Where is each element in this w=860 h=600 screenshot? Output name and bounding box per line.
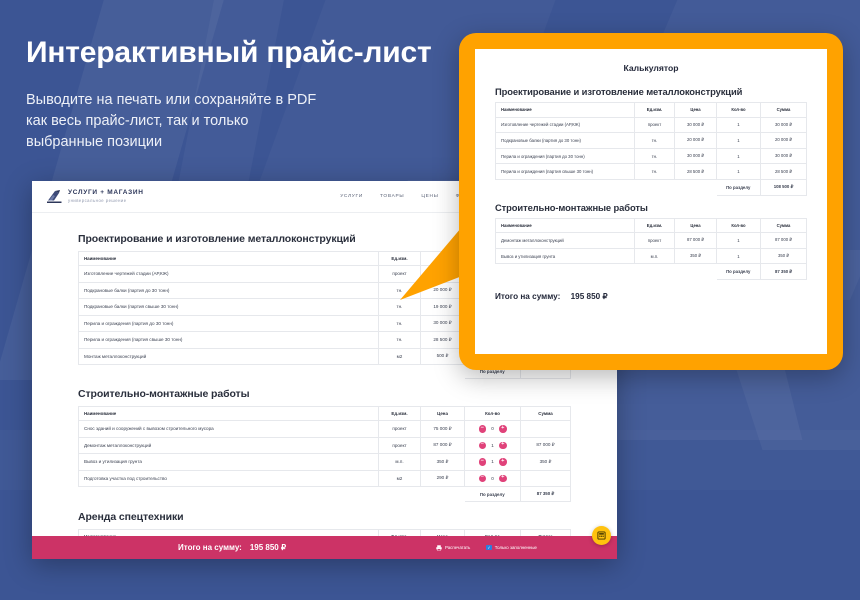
table-row: Изготовление чертежей стадии (АР,КЖ)прое… <box>496 117 807 133</box>
subtotal-spacer <box>496 179 635 195</box>
row-unit: проект <box>379 266 421 283</box>
qty-value: 1 <box>490 443 495 448</box>
row-unit: проект <box>635 117 675 133</box>
row-price: 350 ₽ <box>421 454 465 471</box>
col-name: Наименование <box>496 218 635 233</box>
row-price: 75 000 ₽ <box>421 421 465 438</box>
row-price: 350 ₽ <box>675 248 717 264</box>
col-price: Цена <box>421 252 465 266</box>
subtotal-spacer <box>421 487 465 502</box>
total-value: 195 850 ₽ <box>250 543 286 552</box>
row-unit: тн. <box>379 315 421 332</box>
subtotal-spacer <box>379 487 421 502</box>
row-sum <box>521 421 571 438</box>
col-unit: Ед.изм. <box>379 407 421 421</box>
table-row: Вывоз и утилизация грунтам.п.350 ₽−1+350… <box>79 454 571 471</box>
col-price: Цена <box>675 103 717 118</box>
grand-total-label: Итого на сумму: <box>495 292 560 301</box>
row-qty-stepper[interactable]: −1+ <box>465 454 521 471</box>
checkbox-check-icon: ✓ <box>486 545 492 551</box>
row-unit: м2 <box>379 348 421 365</box>
calculator-title: Калькулятор <box>495 63 807 73</box>
col-unit: Ед.изм. <box>635 103 675 118</box>
row-qty-stepper[interactable]: −0+ <box>465 470 521 487</box>
section-title: Аренда спецтехники <box>78 511 571 523</box>
row-price: 87 000 ₽ <box>675 233 717 249</box>
row-sum: 350 ₽ <box>521 454 571 471</box>
row-sum: 87 000 ₽ <box>521 437 571 454</box>
nav-item-uslugi[interactable]: УСЛУГИ <box>340 194 363 199</box>
row-name: Демонтаж металлоконструкций <box>496 233 635 249</box>
calculator-fab-button[interactable] <box>592 526 611 545</box>
row-qty: 1 <box>717 148 761 164</box>
subtotal-spacer <box>675 179 717 195</box>
price-section: Проектирование и изготовление металлокон… <box>495 86 807 196</box>
subtotal-spacer <box>379 365 421 379</box>
site-logo[interactable]: УСЛУГИ + МАГАЗИН универсальное решение <box>46 189 144 204</box>
col-qty: Кол-во <box>717 103 761 118</box>
row-name: Перила и ограждения (партия до 30 тонн) <box>79 315 379 332</box>
row-unit: м2 <box>379 470 421 487</box>
row-price: 20 000 ₽ <box>675 133 717 149</box>
qty-decrement-button[interactable]: − <box>479 442 487 450</box>
table-row: Перила и ограждения (партия свыше 30 тон… <box>496 164 807 180</box>
qty-increment-button[interactable]: + <box>499 442 507 450</box>
page-title: Интерактивный прайс-лист <box>26 36 456 69</box>
col-unit: Ед.изм. <box>635 218 675 233</box>
total-label: Итого на сумму: <box>178 543 242 552</box>
col-price: Цена <box>421 407 465 421</box>
table-header-row: НаименованиеЕд.изм.ЦенаКол-воСумма <box>496 103 807 118</box>
table-row: Перила и ограждения (партия до 30 тонн)т… <box>496 148 807 164</box>
row-name: Изготовление чертежей стадии (АР,КЖ) <box>496 117 635 133</box>
print-label: Распечатать <box>445 545 470 550</box>
row-name: Изготовление чертежей стадии (АР,КЖ) <box>79 266 379 283</box>
col-price: Цена <box>675 218 717 233</box>
subtotal-spacer <box>79 365 379 379</box>
row-name: Подкрановые балки (партия до 30 тонн) <box>496 133 635 149</box>
qty-increment-button[interactable]: + <box>499 458 507 466</box>
subtotal-row: По разделу87 350 ₽ <box>496 264 807 280</box>
logo-title: УСЛУГИ + МАГАЗИН <box>68 190 144 197</box>
section-title: Проектирование и изготовление металлокон… <box>495 86 807 97</box>
qty-increment-button[interactable]: + <box>499 475 507 483</box>
row-name: Подготовка участка под строительство <box>79 470 379 487</box>
price-table: НаименованиеЕд.изм.ЦенаКол-воСуммаДемонт… <box>495 218 807 280</box>
row-unit: тн. <box>379 332 421 349</box>
row-price: 290 ₽ <box>421 470 465 487</box>
calculator-grand-total: Итого на сумму: 195 850 ₽ <box>495 291 807 301</box>
nav-item-tovary[interactable]: ТОВАРЫ <box>380 194 404 199</box>
nav-item-tseny[interactable]: ЦЕНЫ <box>421 194 438 199</box>
table-header-row: НаименованиеЕд.изм.ЦенаКол-воСумма <box>496 218 807 233</box>
row-qty: 1 <box>717 248 761 264</box>
row-price: 87 000 ₽ <box>421 437 465 454</box>
subtotal-spacer <box>496 264 635 280</box>
row-name: Перила и ограждения (партия свыше 30 тон… <box>496 164 635 180</box>
filled-only-checkbox[interactable]: ✓ Только заполненные <box>486 545 537 551</box>
row-qty: 1 <box>717 233 761 249</box>
col-name: Наименование <box>496 103 635 118</box>
row-price: 28 500 ₽ <box>675 164 717 180</box>
table-row: Вывоз и утилизация грунтам.п.350 ₽1350 ₽ <box>496 248 807 264</box>
table-row: Демонтаж металлоконструкцийпроект87 000 … <box>496 233 807 249</box>
table-header-row: НаименованиеЕд.изм.ЦенаКол-воСумма <box>79 407 571 421</box>
row-price: 20 000 ₽ <box>421 282 465 299</box>
row-unit: проект <box>379 421 421 438</box>
row-price: 30 000 ₽ <box>675 148 717 164</box>
printer-icon <box>436 545 442 551</box>
row-name: Перила и ограждения (партия до 30 тонн) <box>496 148 635 164</box>
row-qty: 1 <box>717 164 761 180</box>
price-section: Строительно-монтажные работыНаименование… <box>495 202 807 280</box>
subtotal-row: По разделу108 500 ₽ <box>496 179 807 195</box>
grand-total-value: 195 850 ₽ <box>571 292 608 301</box>
qty-decrement-button[interactable]: − <box>479 475 487 483</box>
row-price: 30 000 ₽ <box>675 117 717 133</box>
subtotal-label: По разделу <box>717 179 761 195</box>
subtotal-value: 87 350 ₽ <box>761 264 807 280</box>
subtotal-value: 108 500 ₽ <box>761 179 807 195</box>
subtotal-label: По разделу <box>465 487 521 502</box>
price-table: НаименованиеЕд.изм.ЦенаКол-воСуммаСнос з… <box>78 406 571 502</box>
col-name: Наименование <box>79 252 379 266</box>
table-row: Снос зданий и сооружений с вывозом строи… <box>79 421 571 438</box>
subtotal-value: 87 350 ₽ <box>521 487 571 502</box>
qty-value: 0 <box>490 426 495 431</box>
col-qty: Кол-во <box>717 218 761 233</box>
qty-increment-button[interactable]: + <box>499 425 507 433</box>
logo-subtitle: универсальное решение <box>68 199 144 203</box>
row-sum <box>521 470 571 487</box>
row-price: 30 000 ₽ <box>421 315 465 332</box>
row-unit: м.п. <box>379 454 421 471</box>
row-unit: проект <box>379 437 421 454</box>
row-name: Подкрановые балки (партия свыше 30 тонн) <box>79 299 379 316</box>
row-name: Демонтаж металлоконструкций <box>79 437 379 454</box>
row-sum: 30 000 ₽ <box>761 148 807 164</box>
filled-only-label: Только заполненные <box>495 545 537 550</box>
row-name: Вывоз и утилизация грунта <box>496 248 635 264</box>
row-qty: 1 <box>717 133 761 149</box>
col-sum: Сумма <box>761 218 807 233</box>
subtotal-spacer <box>421 365 465 379</box>
calculator-icon <box>597 531 606 540</box>
col-name: Наименование <box>79 407 379 421</box>
row-qty-stepper[interactable]: −1+ <box>465 437 521 454</box>
qty-decrement-button[interactable]: − <box>479 425 487 433</box>
subtotal-spacer <box>675 264 717 280</box>
row-sum: 87 000 ₽ <box>761 233 807 249</box>
hero-text-block: Интерактивный прайс-лист Выводите на печ… <box>26 36 456 153</box>
hero-subtitle: Выводите на печать или сохраняйте в PDF … <box>26 90 456 153</box>
row-name: Вывоз и утилизация грунта <box>79 454 379 471</box>
row-price: 19 000 ₽ <box>421 299 465 316</box>
row-unit: тн. <box>379 282 421 299</box>
price-table: НаименованиеЕд.изм.ЦенаКол-воСуммаИзгото… <box>495 102 807 196</box>
section-title: Строительно-монтажные работы <box>495 202 807 213</box>
col-sum: Сумма <box>761 103 807 118</box>
row-name: Подкрановые балки (партия до 30 тонн) <box>79 282 379 299</box>
row-unit: тн. <box>635 133 675 149</box>
row-price: 30 000 ₽ <box>421 266 465 283</box>
row-unit: тн. <box>635 164 675 180</box>
calculator-sheet: Калькулятор Проектирование и изготовлени… <box>475 49 827 354</box>
subtotal-spacer <box>79 487 379 502</box>
qty-value: 0 <box>490 476 495 481</box>
row-unit: тн. <box>635 148 675 164</box>
subtotal-spacer <box>635 264 675 280</box>
col-unit: Ед.изм. <box>379 252 421 266</box>
table-row: Подкрановые балки (партия до 30 тонн)тн.… <box>496 133 807 149</box>
calculator-sections: Проектирование и изготовление металлокон… <box>495 86 807 280</box>
col-qty: Кол-во <box>465 407 521 421</box>
table-row: Демонтаж металлоконструкцийпроект87 000 … <box>79 437 571 454</box>
row-unit: проект <box>635 233 675 249</box>
row-unit: тн. <box>379 299 421 316</box>
print-button[interactable]: Распечатать <box>436 545 470 551</box>
row-qty-stepper[interactable]: −0+ <box>465 421 521 438</box>
col-sum: Сумма <box>521 407 571 421</box>
eagle-logo-icon <box>46 189 63 204</box>
subtotal-spacer <box>635 179 675 195</box>
row-unit: м.п. <box>635 248 675 264</box>
subtotal-label: По разделу <box>717 264 761 280</box>
table-row: Подготовка участка под строительством229… <box>79 470 571 487</box>
row-sum: 30 000 ₽ <box>761 117 807 133</box>
calculator-popup: Калькулятор Проектирование и изготовлени… <box>459 33 843 370</box>
row-qty: 1 <box>717 117 761 133</box>
row-name: Перила и ограждения (партия свыше 30 тон… <box>79 332 379 349</box>
row-name: Монтаж металлоконструкций <box>79 348 379 365</box>
qty-value: 1 <box>490 459 495 464</box>
subtotal-row: По разделу87 350 ₽ <box>79 487 571 502</box>
section-title: Строительно-монтажные работы <box>78 388 571 400</box>
row-name: Снос зданий и сооружений с вывозом строи… <box>79 421 379 438</box>
row-sum: 28 500 ₽ <box>761 164 807 180</box>
row-price: 500 ₽ <box>421 348 465 365</box>
row-sum: 20 000 ₽ <box>761 133 807 149</box>
qty-decrement-button[interactable]: − <box>479 458 487 466</box>
price-section: Строительно-монтажные работыНаименование… <box>78 388 571 502</box>
total-bar: Итого на сумму: 195 850 ₽ Распечатать ✓ … <box>32 536 617 559</box>
row-price: 28 500 ₽ <box>421 332 465 349</box>
row-sum: 350 ₽ <box>761 248 807 264</box>
